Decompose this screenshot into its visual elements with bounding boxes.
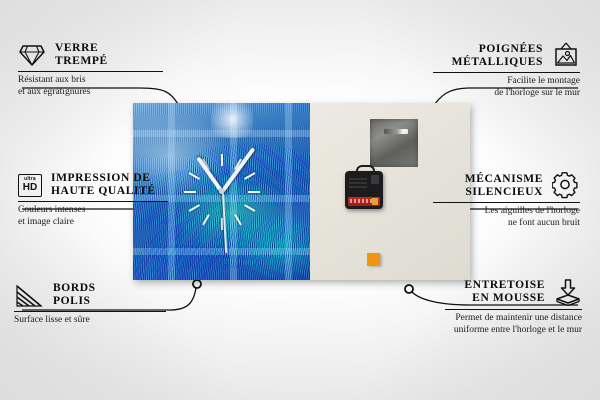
clock-center-cap (219, 189, 224, 194)
callout-title: IMPRESSION DE HAUTE QUALITÉ (51, 172, 156, 198)
callout-verre-trempe: VERRE TREMPÉ Résistant aux bris et aux é… (18, 42, 163, 98)
callout-title: POIGNÉES MÉTALLIQUES (452, 43, 543, 69)
product-image (133, 103, 470, 280)
callout-bords-polis: BORDS POLIS Surface lisse et sûre (14, 282, 166, 327)
divider (433, 72, 580, 73)
battery-plus-terminal (372, 198, 378, 205)
mechanism-detail (371, 175, 379, 184)
callout-description: Couleurs intenses et image claire (18, 205, 168, 228)
callout-description: Permet de maintenir une distance uniform… (445, 313, 582, 336)
callout-description: Surface lisse et sûre (14, 315, 166, 327)
metal-hanger-bracket (370, 119, 418, 167)
battery (348, 197, 380, 206)
divider (14, 311, 166, 312)
divider (18, 201, 168, 202)
mechanism-knob (356, 165, 375, 175)
product-infographic: VERRE TREMPÉ Résistant aux bris et aux é… (0, 0, 600, 400)
divider (433, 202, 580, 203)
callout-entretoise-en-mousse: ENTRETOISE EN MOUSSE Permet de maintenir… (445, 278, 582, 336)
callout-mecanisme-silencieux: MÉCANISME SILENCIEUX Les aiguilles de l'… (433, 172, 580, 229)
callout-description: Résistant aux bris et aux égratignures (18, 75, 163, 98)
quartz-mechanism (345, 171, 383, 209)
callout-poignees-metalliques: POIGNÉES MÉTALLIQUES Facilite le montage… (433, 42, 580, 99)
diamond-icon (18, 43, 46, 68)
divider (18, 71, 163, 72)
polished-edge-icon (14, 283, 44, 308)
mechanism-detail (349, 176, 367, 188)
hanging-picture-frame-icon (552, 42, 580, 69)
ultra-hd-icon: ultra HD (18, 174, 42, 197)
callout-impression-haute-qualite: ultra HD IMPRESSION DE HAUTE QUALITÉ Cou… (18, 172, 168, 228)
foam-spacer (367, 253, 380, 266)
hanger-slot (384, 129, 408, 134)
callout-description: Les aiguilles de l'horloge ne font aucun… (433, 206, 580, 229)
divider (445, 309, 582, 310)
callout-description: Facilite le montage de l'horloge sur le … (433, 76, 580, 99)
callout-title: VERRE TREMPÉ (55, 42, 108, 68)
callout-title: BORDS POLIS (53, 282, 96, 308)
glass-highlight (211, 103, 253, 138)
callout-title: ENTRETOISE EN MOUSSE (464, 279, 545, 305)
ultra-hd-icon-main-label: HD (23, 183, 37, 193)
battery-label (350, 199, 372, 203)
gear-icon (552, 172, 580, 199)
callout-title: MÉCANISME SILENCIEUX (465, 173, 543, 199)
foam-spacer-arrow-icon (554, 278, 582, 306)
